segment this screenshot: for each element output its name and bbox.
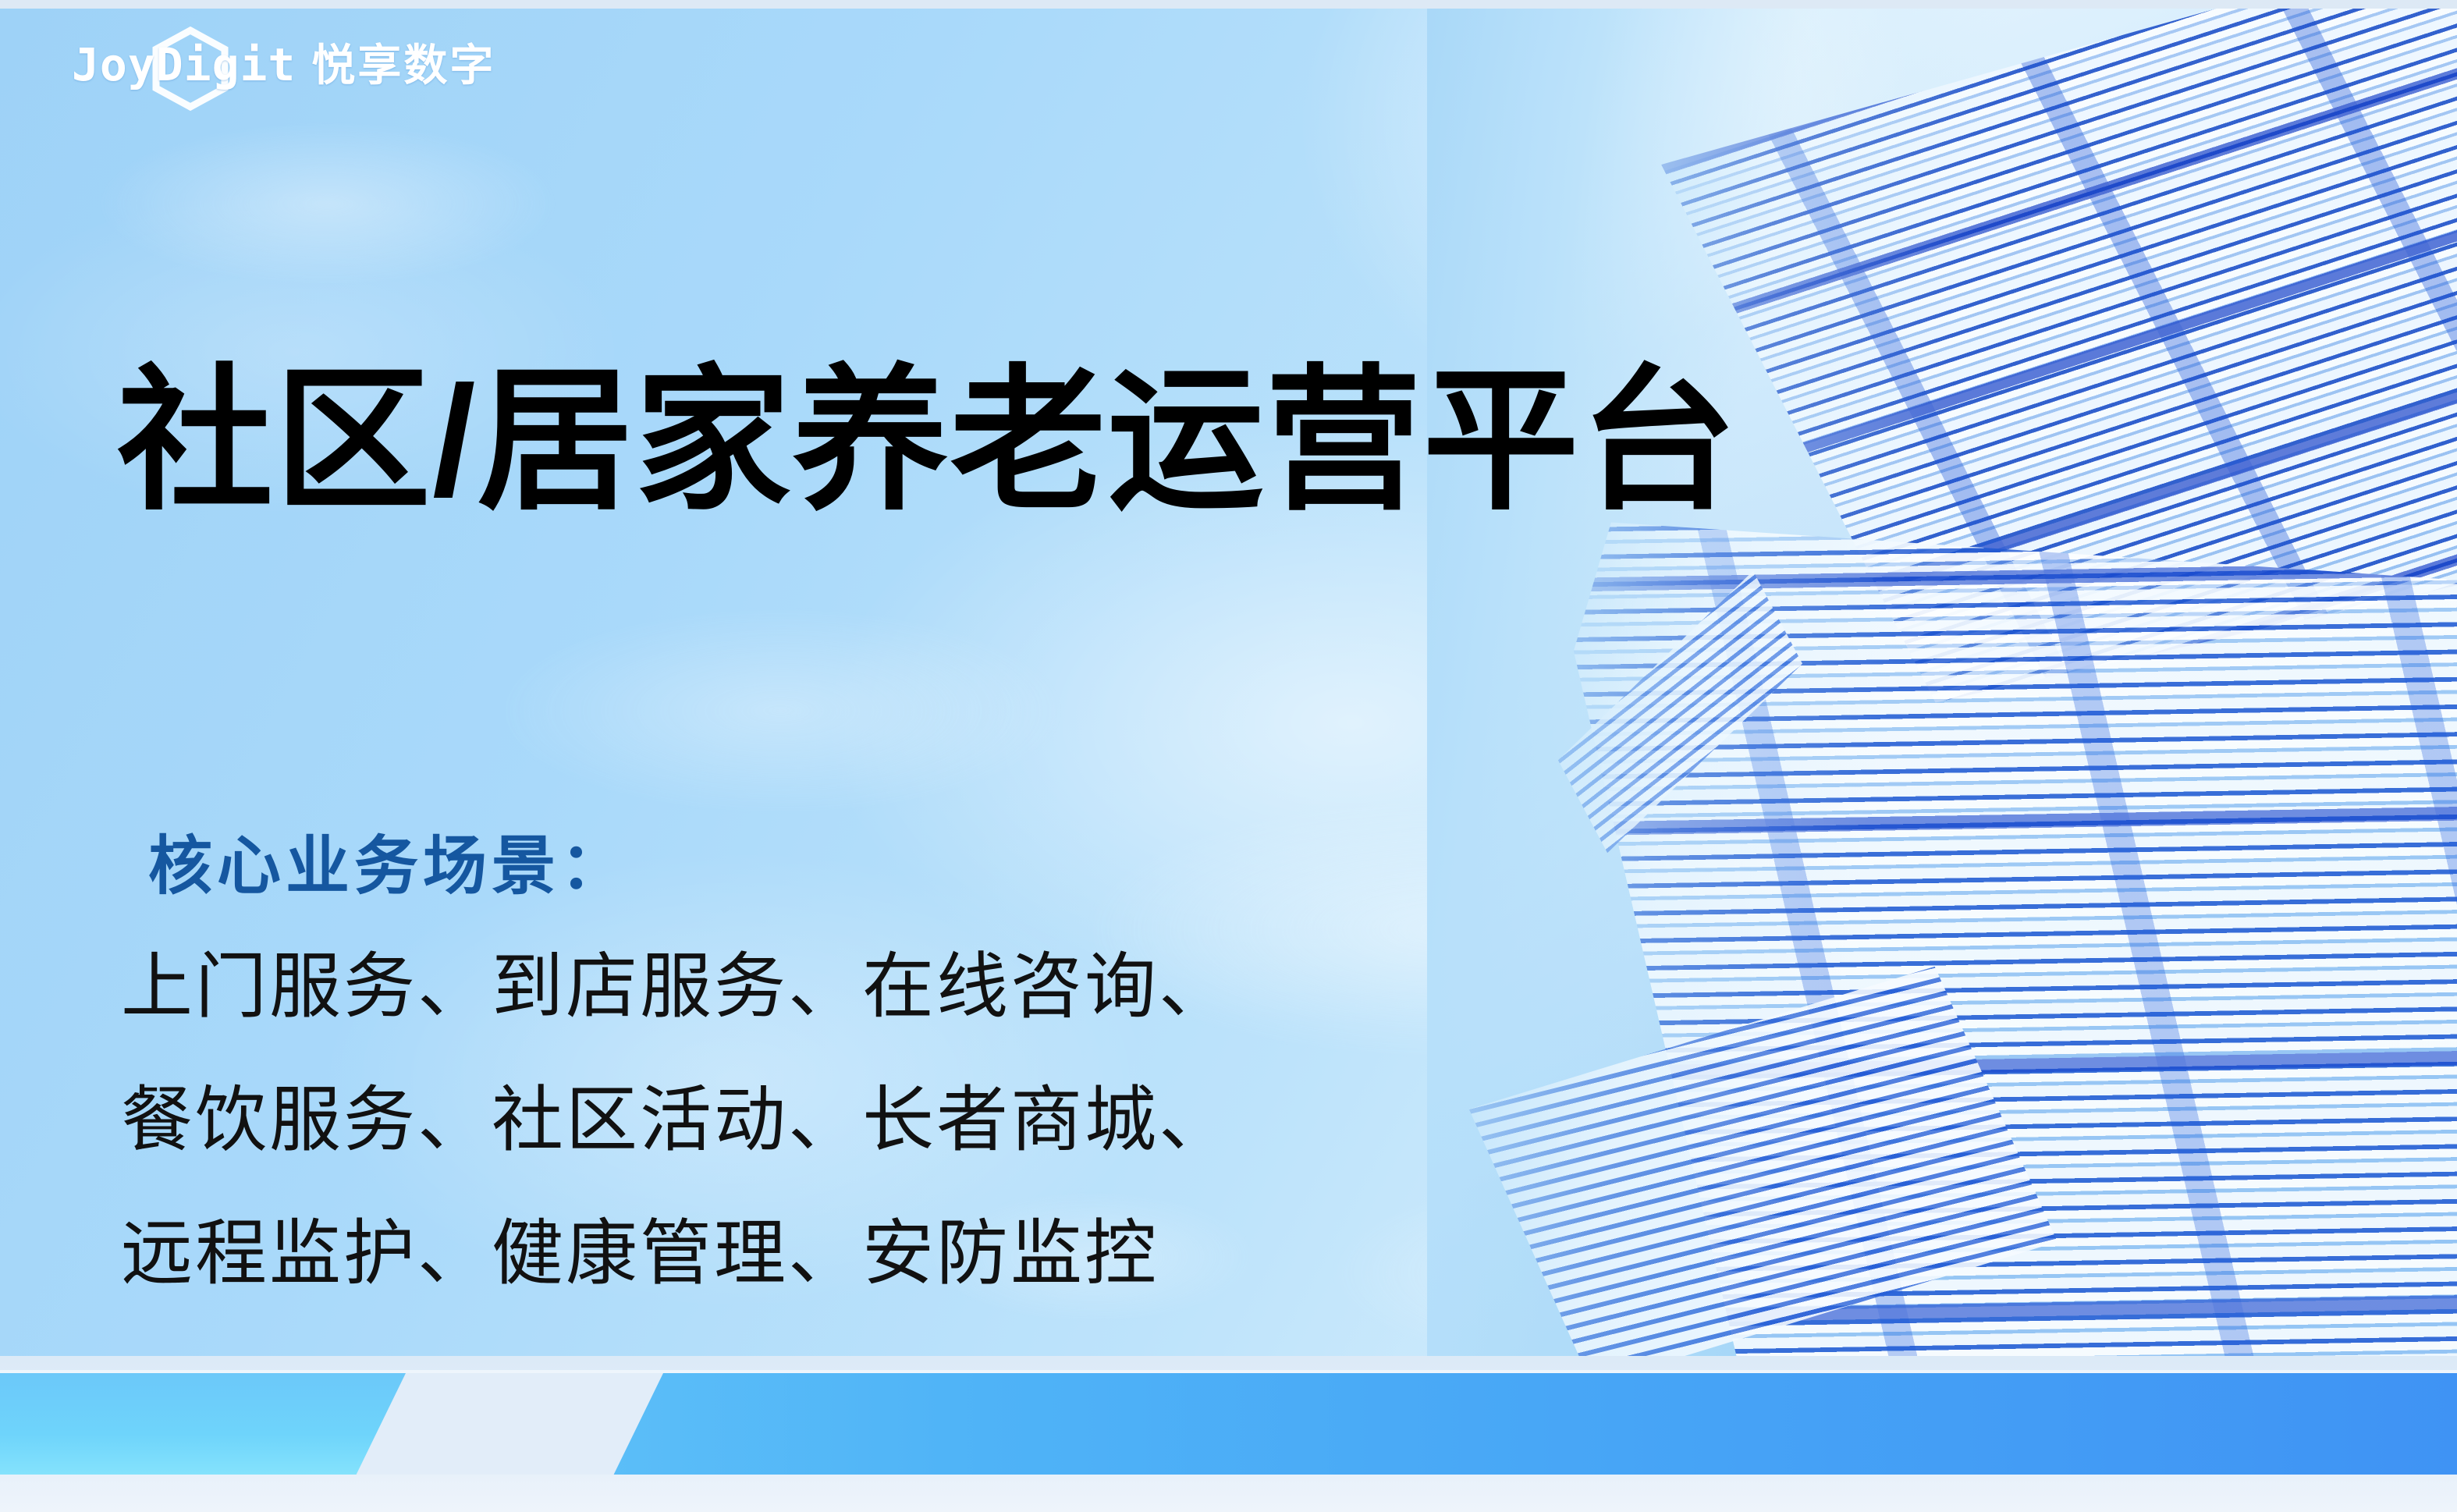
page-title: 社区/居家养老运营平台: [117, 364, 1738, 520]
brand-logo: JoyDigit 悦享数字: [72, 30, 495, 100]
photo-left-fade: [1427, 9, 2457, 1382]
scenario-line: 远程监护、健康管理、安防监控: [121, 1187, 1233, 1321]
core-scenarios-body: 上门服务、到店服务、在线咨询、 餐饮服务、社区活动、长者商城、 远程监护、健康管…: [121, 921, 1233, 1321]
bottom-bar-hairline: [0, 1370, 2457, 1373]
top-edge-strip: [0, 0, 2457, 9]
bottom-decorative-bar: [0, 1356, 2457, 1512]
scenario-line: 上门服务、到店服务、在线咨询、: [121, 921, 1233, 1054]
brand-name-en: JoyDigit: [72, 42, 296, 87]
brand-logo-text: JoyDigit 悦享数字: [72, 42, 495, 87]
slide-canvas: JoyDigit 悦享数字 社区/居家养老运营平台 核心业务场景： 上门服务、到…: [0, 0, 2457, 1512]
scenario-line: 餐饮服务、社区活动、长者商城、: [121, 1054, 1233, 1187]
brand-name-cn: 悦享数字: [311, 44, 495, 87]
core-scenarios-heading: 核心业务场景：: [148, 835, 629, 899]
skyscraper-photo: [1427, 9, 2457, 1382]
bottom-bar-diagonal-gap: [357, 1373, 663, 1475]
